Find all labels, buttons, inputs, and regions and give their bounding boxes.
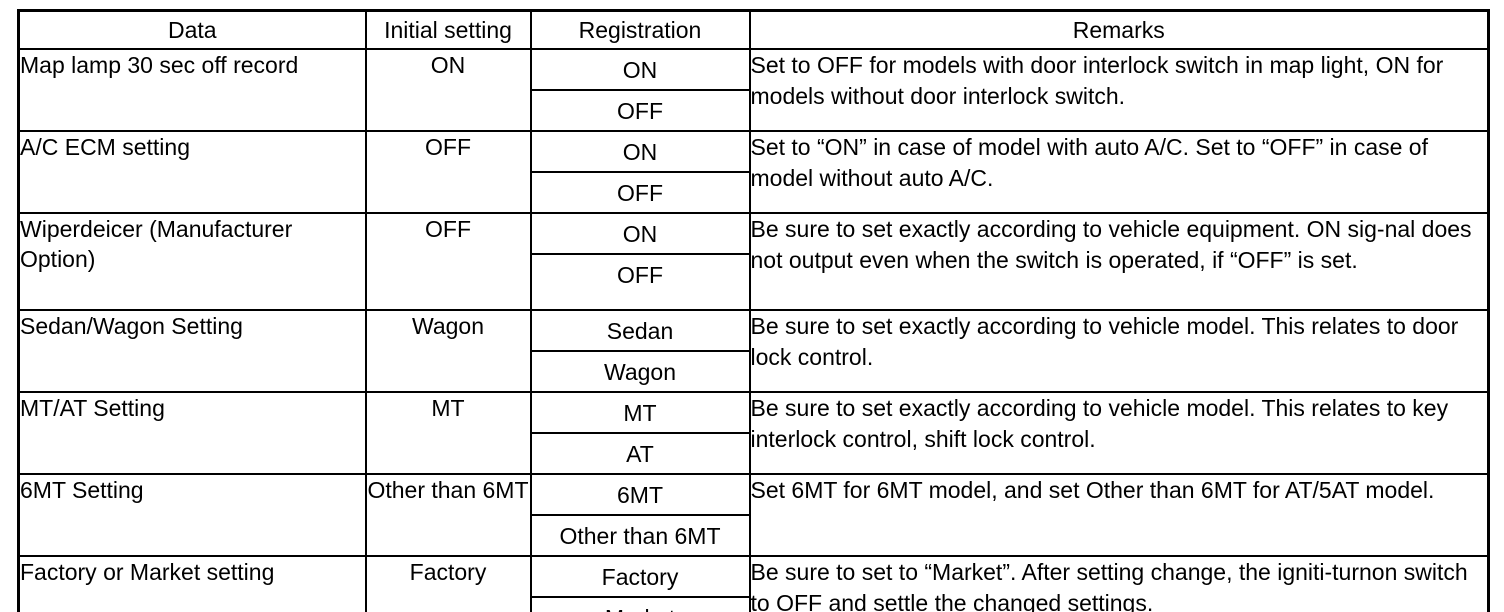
table-row: Map lamp 30 sec off record ON ON OFF Set… <box>19 49 1489 131</box>
registration-option: 6MT <box>532 475 749 515</box>
cell-remarks: Be sure to set to “Market”. After settin… <box>750 556 1489 612</box>
cell-initial-setting: ON <box>366 49 531 131</box>
cell-initial-setting: Factory <box>366 556 531 612</box>
cell-remarks: Be sure to set exactly according to vehi… <box>750 392 1489 474</box>
registration-option: OFF <box>532 172 749 212</box>
registration-options: ON OFF <box>532 50 749 130</box>
registration-option: Wagon <box>532 351 749 391</box>
column-header-remarks: Remarks <box>750 11 1489 50</box>
header-row: Data Initial setting Registration Remark… <box>19 11 1489 50</box>
cell-registration: 6MT Other than 6MT <box>531 474 750 556</box>
customize-settings-table: Data Initial setting Registration Remark… <box>17 9 1490 612</box>
registration-options: ON OFF <box>532 214 749 294</box>
cell-remarks: Set to OFF for models with door interloc… <box>750 49 1489 131</box>
registration-options: Factory Market <box>532 557 749 612</box>
cell-initial-setting: OFF <box>366 213 531 310</box>
cell-registration: Sedan Wagon <box>531 310 750 392</box>
column-header-initial-setting: Initial setting <box>366 11 531 50</box>
cell-registration: ON OFF <box>531 131 750 213</box>
registration-options: MT AT <box>532 393 749 473</box>
cell-data: A/C ECM setting <box>19 131 366 213</box>
cell-initial-setting: Wagon <box>366 310 531 392</box>
registration-options: ON OFF <box>532 132 749 212</box>
cell-registration: Factory Market <box>531 556 750 612</box>
table-row: Wiperdeicer (Manufacturer Option) OFF ON… <box>19 213 1489 310</box>
registration-options: 6MT Other than 6MT <box>532 475 749 555</box>
cell-registration: MT AT <box>531 392 750 474</box>
table-row: Factory or Market setting Factory Factor… <box>19 556 1489 612</box>
registration-option: Market <box>532 597 749 612</box>
registration-option: Other than 6MT <box>532 515 749 555</box>
table-header: Data Initial setting Registration Remark… <box>19 11 1489 50</box>
registration-option: ON <box>532 214 749 254</box>
registration-option: ON <box>532 50 749 90</box>
table-body: Map lamp 30 sec off record ON ON OFF Set… <box>19 49 1489 612</box>
cell-initial-setting: OFF <box>366 131 531 213</box>
cell-remarks: Set to “ON” in case of model with auto A… <box>750 131 1489 213</box>
cell-initial-setting: Other than 6MT <box>366 474 531 556</box>
cell-data: Map lamp 30 sec off record <box>19 49 366 131</box>
cell-remarks: Be sure to set exactly according to vehi… <box>750 213 1489 310</box>
cell-registration: ON OFF <box>531 213 750 310</box>
cell-data: 6MT Setting <box>19 474 366 556</box>
table-row: MT/AT Setting MT MT AT Be sure to set ex… <box>19 392 1489 474</box>
cell-data: Sedan/Wagon Setting <box>19 310 366 392</box>
cell-remarks: Be sure to set exactly according to vehi… <box>750 310 1489 392</box>
cell-data: Factory or Market setting <box>19 556 366 612</box>
registration-option: Factory <box>532 557 749 597</box>
cell-data: MT/AT Setting <box>19 392 366 474</box>
registration-option: OFF <box>532 90 749 130</box>
registration-option: ON <box>532 132 749 172</box>
cell-data: Wiperdeicer (Manufacturer Option) <box>19 213 366 310</box>
table-row: Sedan/Wagon Setting Wagon Sedan Wagon Be… <box>19 310 1489 392</box>
registration-options: Sedan Wagon <box>532 311 749 391</box>
table-row: 6MT Setting Other than 6MT 6MT Other tha… <box>19 474 1489 556</box>
cell-registration: ON OFF <box>531 49 750 131</box>
cell-initial-setting: MT <box>366 392 531 474</box>
column-header-data: Data <box>19 11 366 50</box>
registration-option: AT <box>532 433 749 473</box>
cell-remarks: Set 6MT for 6MT model, and set Other tha… <box>750 474 1489 556</box>
registration-option: MT <box>532 393 749 433</box>
column-header-registration: Registration <box>531 11 750 50</box>
table-row: A/C ECM setting OFF ON OFF Set to “ON” i… <box>19 131 1489 213</box>
page-root: Data Initial setting Registration Remark… <box>0 0 1504 612</box>
registration-option: Sedan <box>532 311 749 351</box>
registration-option: OFF <box>532 254 749 294</box>
